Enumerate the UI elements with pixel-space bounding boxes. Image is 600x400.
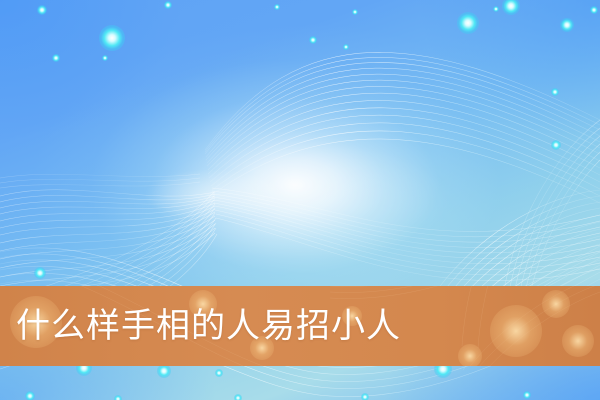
glow-particle [309,36,317,44]
caption-bar-spark [458,344,482,366]
caption-title: 什么样手相的人易招小人 [16,286,401,366]
glow-particle [493,6,499,12]
glow-particle [234,394,242,400]
glow-particle [352,9,358,15]
glow-particle [99,25,125,51]
glow-particle [215,369,223,377]
glow-particle [37,5,47,15]
glow-particle [34,267,46,279]
banner-image: 什么样手相的人易招小人 [0,0,600,400]
glow-particle [343,44,349,50]
glow-particle [114,395,122,400]
glow-particle [52,54,60,62]
glow-particle [502,0,520,15]
glow-particle [157,364,171,378]
caption-bar-spark [490,305,542,357]
glow-particle [274,4,280,10]
glow-particle [523,391,531,399]
glow-particle [551,88,559,96]
glow-particle [102,55,108,61]
glow-particle [25,391,35,400]
glow-particle [164,1,172,9]
glow-particle [551,140,561,150]
glow-particle [361,393,369,400]
caption-bar-spark [562,325,594,357]
glow-particle [590,6,598,14]
glow-particle [457,12,479,34]
glow-particle [560,18,574,32]
caption-bar-spark [542,290,570,318]
